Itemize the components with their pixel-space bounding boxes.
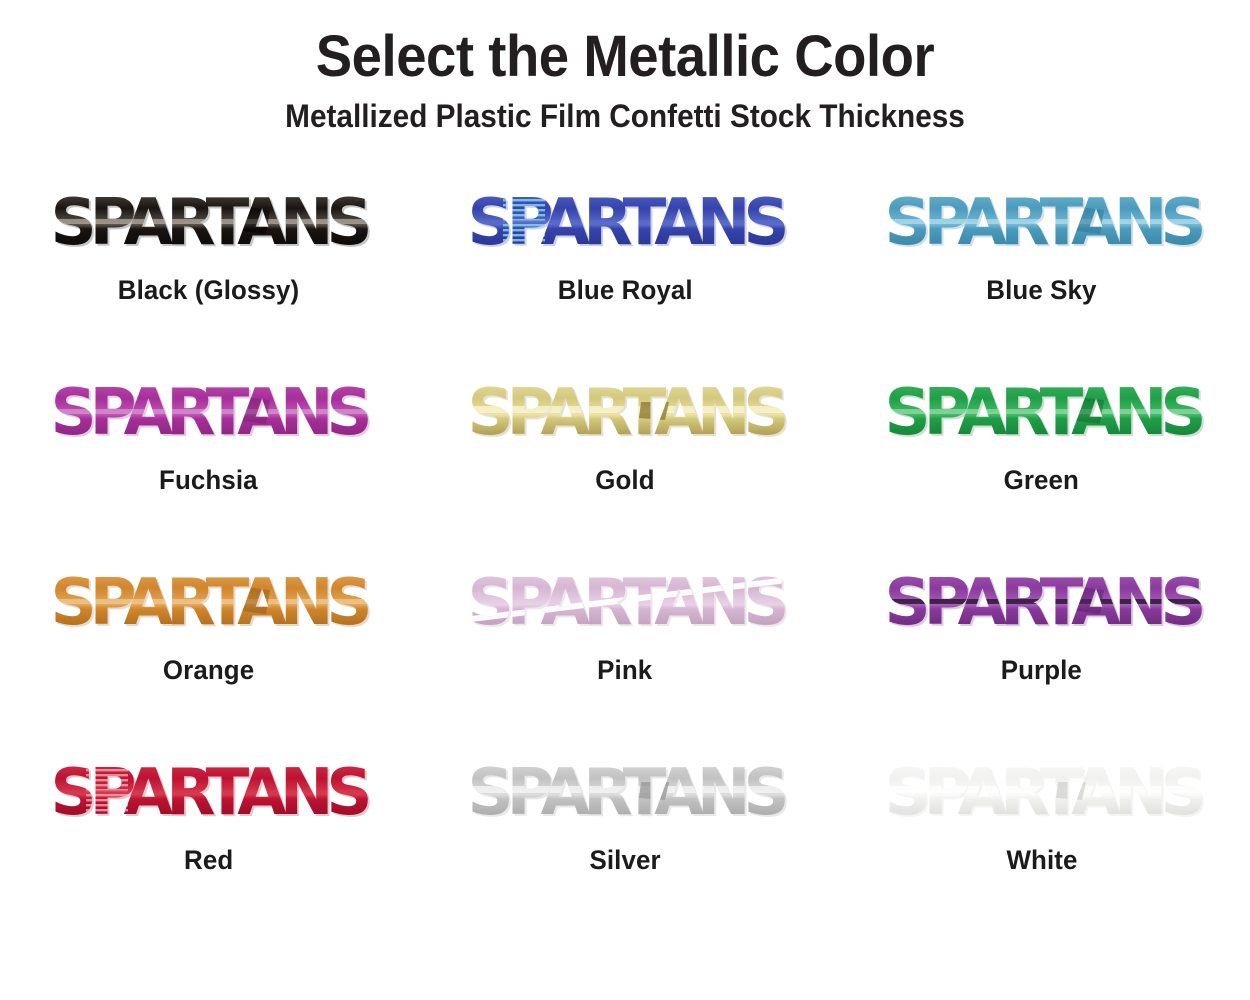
color-label-blue-sky: Blue Sky [987,275,1097,306]
spartans-wordmark-blue-sky: SPARTANSSPARTANSSPARTANS [872,176,1212,272]
spartans-wordmark-black-glossy: SPARTANSSPARTANSSPARTANS [38,176,378,272]
color-label-blue-royal: Blue Royal [558,275,693,306]
color-option-blue-sky[interactable]: SPARTANSSPARTANSSPARTANSBlue Sky [833,169,1250,359]
color-label-green: Green [1004,465,1079,496]
color-option-green[interactable]: SPARTANSSPARTANSSPARTANSGreen [833,359,1250,549]
confetti-sample-pink[interactable]: SPARTANSSPARTANSSPARTANS [440,549,810,659]
color-label-purple: Purple [1001,655,1082,686]
spartans-wordmark-blue-royal: SPARTANSSPARTANSSPARTANS [455,176,795,272]
confetti-sample-purple[interactable]: SPARTANSSPARTANSSPARTANS [857,549,1227,659]
color-option-silver[interactable]: SPARTANSSPARTANSSPARTANSSilver [417,739,834,929]
color-option-orange[interactable]: SPARTANSSPARTANSSPARTANSOrange [0,549,417,739]
confetti-sample-white[interactable]: SPARTANSSPARTANSSPARTANS [857,739,1227,849]
color-label-white: White [1006,845,1077,876]
color-option-red[interactable]: SPARTANSSPARTANSSPARTANSRed [0,739,417,929]
confetti-sample-gold[interactable]: SPARTANSSPARTANSSPARTANS [440,359,810,469]
color-label-silver: Silver [589,845,660,876]
spartans-wordmark-purple: SPARTANSSPARTANSSPARTANS [872,556,1212,652]
page-header: Select the Metallic Color Metallized Pla… [0,0,1250,135]
color-option-black-glossy[interactable]: SPARTANSSPARTANSSPARTANSBlack (Glossy) [0,169,417,359]
color-option-purple[interactable]: SPARTANSSPARTANSSPARTANSPurple [833,549,1250,739]
page-subtitle: Metallized Plastic Film Confetti Stock T… [44,99,1207,134]
confetti-sample-green[interactable]: SPARTANSSPARTANSSPARTANS [857,359,1227,469]
color-option-white[interactable]: SPARTANSSPARTANSSPARTANSWhite [833,739,1250,929]
color-option-blue-royal[interactable]: SPARTANSSPARTANSSPARTANSBlue Royal [417,169,834,359]
spartans-wordmark-pink: SPARTANSSPARTANSSPARTANS [455,556,795,652]
spartans-wordmark-white: SPARTANSSPARTANSSPARTANS [872,746,1212,842]
color-label-orange: Orange [163,655,254,686]
spartans-wordmark-red: SPARTANSSPARTANSSPARTANS [38,746,378,842]
spartans-wordmark-fuchsia: SPARTANSSPARTANSSPARTANS [38,366,378,462]
color-label-pink: Pink [597,655,652,686]
spartans-wordmark-gold: SPARTANSSPARTANSSPARTANS [455,366,795,462]
color-option-pink[interactable]: SPARTANSSPARTANSSPARTANSPink [417,549,834,739]
confetti-sample-black-glossy[interactable]: SPARTANSSPARTANSSPARTANS [23,169,393,279]
color-option-fuchsia[interactable]: SPARTANSSPARTANSSPARTANSFuchsia [0,359,417,549]
confetti-sample-blue-sky[interactable]: SPARTANSSPARTANSSPARTANS [857,169,1227,279]
confetti-sample-blue-royal[interactable]: SPARTANSSPARTANSSPARTANS [440,169,810,279]
color-label-black-glossy: Black (Glossy) [118,275,299,306]
confetti-sample-fuchsia[interactable]: SPARTANSSPARTANSSPARTANS [23,359,393,469]
svg-text:SPARTANS: SPARTANS [468,566,786,640]
spartans-wordmark-silver: SPARTANSSPARTANSSPARTANS [455,746,795,842]
spartans-wordmark-green: SPARTANSSPARTANSSPARTANS [872,366,1212,462]
page-title: Select the Metallic Color [38,26,1213,87]
color-label-fuchsia: Fuchsia [159,465,258,496]
confetti-sample-orange[interactable]: SPARTANSSPARTANSSPARTANS [23,549,393,659]
color-swatch-grid: SPARTANSSPARTANSSPARTANSBlack (Glossy)SP… [0,169,1250,929]
confetti-sample-silver[interactable]: SPARTANSSPARTANSSPARTANS [440,739,810,849]
spartans-wordmark-orange: SPARTANSSPARTANSSPARTANS [38,556,378,652]
color-label-gold: Gold [595,465,654,496]
color-label-red: Red [184,845,233,876]
confetti-sample-red[interactable]: SPARTANSSPARTANSSPARTANS [23,739,393,849]
color-option-gold[interactable]: SPARTANSSPARTANSSPARTANSGold [417,359,834,549]
color-selector-page: Select the Metallic Color Metallized Pla… [0,0,1250,1000]
